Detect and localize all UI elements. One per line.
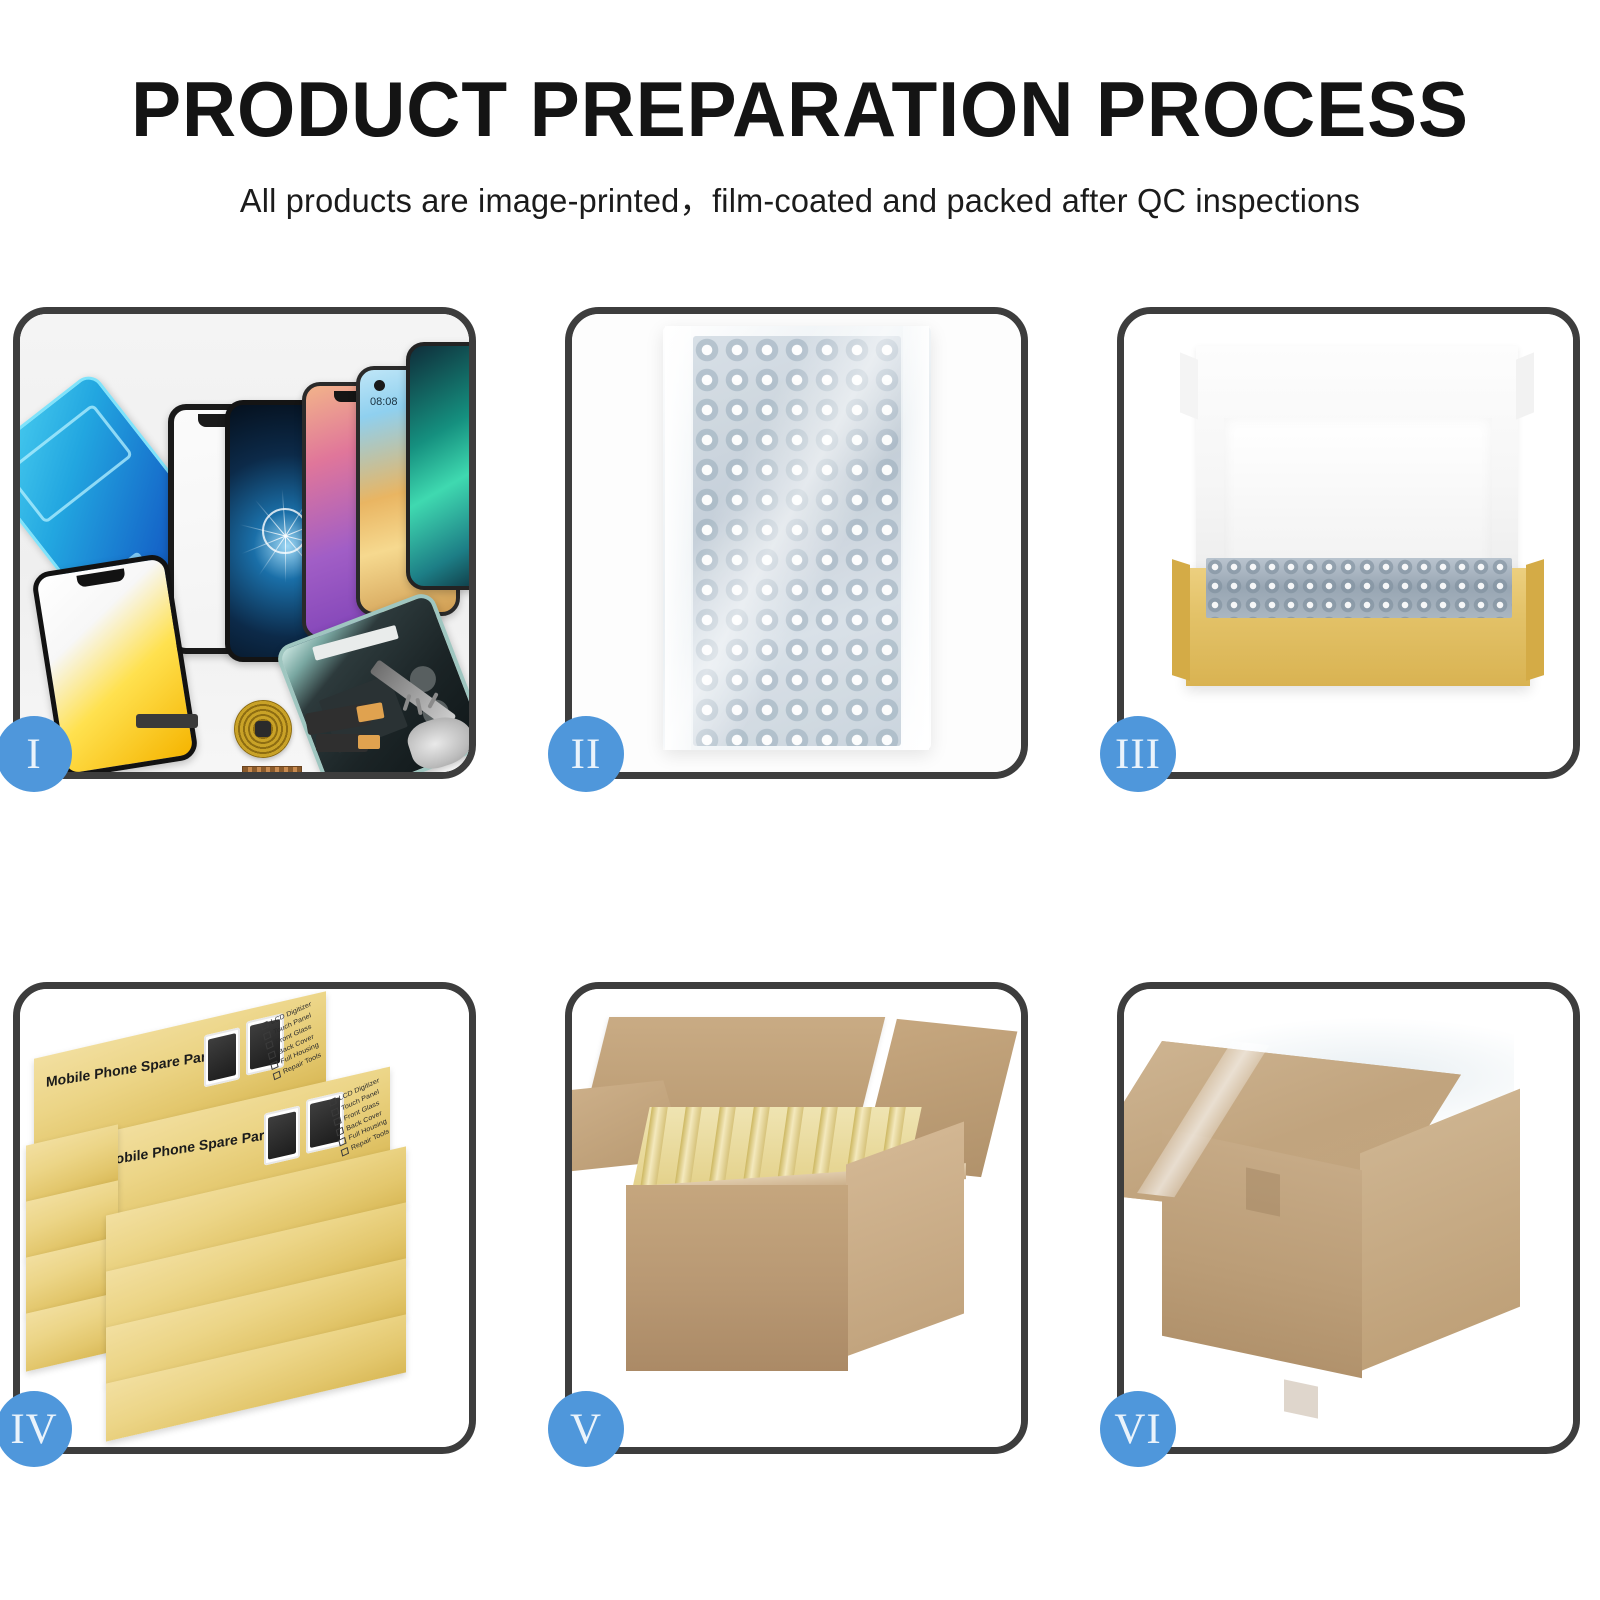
infographic-page: PRODUCT PREPARATION PROCESS All products… (0, 0, 1600, 1600)
bubble-wrapped-product (1206, 558, 1512, 618)
earpiece-speaker-part (136, 714, 198, 728)
step-image-5 (572, 989, 1021, 1447)
page-subtitle: All products are image-printed，film-coat… (12, 174, 1588, 222)
step-badge-6: VI (1100, 1391, 1176, 1467)
step-badge-5: V (548, 1391, 624, 1467)
step-image-4: Mobile Phone Spare Parts LCD Digitizer T… (20, 989, 469, 1447)
bubble-wrap-sleeve (663, 326, 931, 750)
box-window (204, 1027, 240, 1087)
step-badge-4: IV (0, 1391, 72, 1467)
carton-tab (1284, 1379, 1318, 1418)
header: PRODUCT PREPARATION PROCESS All products… (0, 70, 1600, 222)
teal-display-phone (406, 342, 469, 590)
screws-part (403, 692, 449, 722)
step-card-3[interactable]: III (1117, 307, 1580, 779)
step-image-6 (1124, 989, 1573, 1447)
box-window (264, 1105, 300, 1165)
step-card-2[interactable]: II (565, 307, 1028, 779)
page-title: PRODUCT PREPARATION PROCESS (32, 70, 1568, 148)
step-card-4[interactable]: Mobile Phone Spare Parts LCD Digitizer T… (13, 982, 476, 1454)
step-image-2 (572, 314, 1021, 772)
box-brand-label: Mobile Phone Spare Parts (46, 1046, 219, 1090)
carton-front-panel (626, 1185, 848, 1371)
carton-tab (1246, 1167, 1280, 1216)
wireless-charging-coil-part (234, 700, 292, 758)
box-checklist: LCD Digitizer Touch Panel Front Glass Ba… (260, 1000, 325, 1083)
label-strip (312, 625, 399, 661)
punch-hole-camera-icon (374, 380, 385, 391)
box-brand-label: Mobile Phone Spare Parts (104, 1125, 277, 1169)
plastic-sheen (663, 326, 931, 750)
step-card-1[interactable]: 08:08 (13, 307, 476, 779)
step-card-5[interactable]: V (565, 982, 1028, 1454)
phone-clock: 08:08 (370, 396, 398, 408)
step-badge-3: III (1100, 716, 1176, 792)
step-card-6[interactable]: VI (1117, 982, 1580, 1454)
box-checklist: LCD Digitizer Touch Panel Front Glass Ba… (328, 1076, 390, 1159)
step-badge-1: I (0, 716, 72, 792)
step-image-3 (1124, 314, 1573, 772)
notch (76, 568, 125, 587)
foam-insert (1224, 418, 1492, 576)
step-image-1: 08:08 (20, 314, 469, 772)
ic-chip-part (242, 766, 302, 772)
carton-side-panel (846, 1122, 964, 1357)
step-badge-2: II (548, 716, 624, 792)
flex-cable-part (316, 734, 368, 752)
